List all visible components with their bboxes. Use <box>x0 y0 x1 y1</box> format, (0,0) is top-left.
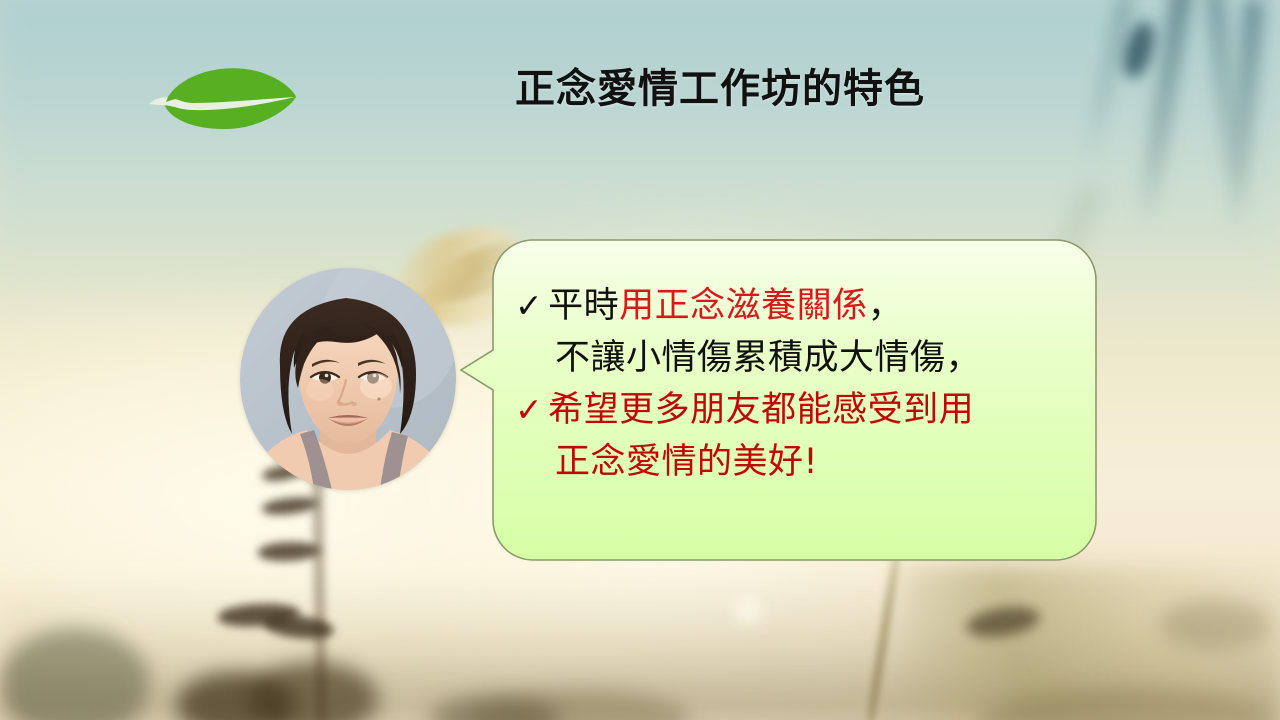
speech-bubble-line: ✓平時用正念滋養關係， <box>515 280 1095 332</box>
text-segment: ， <box>868 286 904 326</box>
text-segment: 平時 <box>548 286 619 326</box>
text-segment: 不讓小情傷累積成大情傷， <box>555 338 981 378</box>
speech-bubble: ✓平時用正念滋養關係，不讓小情傷累積成大情傷，✓希望更多朋友都能感受到用正念愛情… <box>455 232 1105 572</box>
speech-bubble-line: 不讓小情傷累積成大情傷， <box>515 332 1095 384</box>
speech-bubble-line: ✓希望更多朋友都能感受到用 <box>515 384 1095 436</box>
speech-bubble-text: ✓平時用正念滋養關係，不讓小情傷累積成大情傷，✓希望更多朋友都能感受到用正念愛情… <box>515 280 1095 488</box>
text-segment: 希望更多朋友都能感受到用 <box>548 390 974 430</box>
page-title: 正念愛情工作坊的特色 <box>420 66 1020 112</box>
bokeh-highlight <box>726 588 770 632</box>
checkmark-icon: ✓ <box>515 286 543 325</box>
leaf-icon <box>148 58 298 132</box>
foreground-blur-blob <box>1160 600 1270 650</box>
checkmark-icon: ✓ <box>515 390 543 429</box>
text-segment: 用正念滋養關係 <box>619 286 868 326</box>
avatar <box>240 268 456 490</box>
slide-canvas: 正念愛情工作坊的特色 <box>0 0 1280 720</box>
speech-bubble-line: 正念愛情的美好! <box>515 436 1095 488</box>
text-segment: 正念愛情的美好! <box>555 442 818 482</box>
